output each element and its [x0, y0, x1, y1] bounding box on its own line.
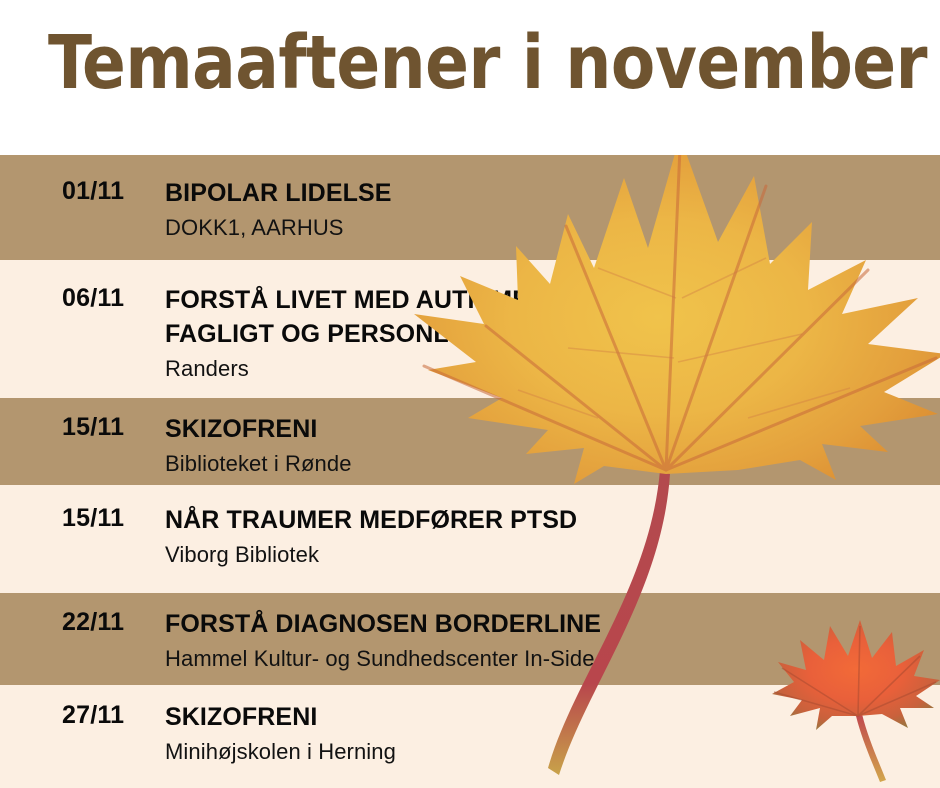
event-title-line1: BIPOLAR LIDELSE: [165, 179, 392, 207]
table-row: 06/11 FORSTÅ LIVET MED AUTISME UD FRA ET…: [0, 260, 940, 398]
table-row: 15/11 SKIZOFRENI Biblioteket i Rønde: [0, 398, 940, 485]
event-title-line1: NÅR TRAUMER MEDFØRER PTSD: [165, 506, 577, 534]
event-title: NÅR TRAUMER MEDFØRER PTSD: [165, 504, 930, 538]
event-title-line1: FORSTÅ LIVET MED AUTISME UD FRA ET: [165, 286, 669, 314]
event-title: SKIZOFRENI: [165, 701, 930, 735]
event-title: FORSTÅ LIVET MED AUTISME UD FRA ET FAGLI…: [165, 284, 930, 352]
table-row: 15/11 NÅR TRAUMER MEDFØRER PTSD Viborg B…: [0, 485, 940, 593]
event-date: 01/11: [0, 155, 165, 206]
title-bar: Temaaftener i november: [0, 0, 940, 155]
event-body: BIPOLAR LIDELSE DOKK1, AARHUS: [165, 155, 940, 242]
event-body: NÅR TRAUMER MEDFØRER PTSD Viborg Bibliot…: [165, 485, 940, 569]
event-venue: Hammel Kultur- og Sundhedscenter In-Side: [165, 645, 930, 674]
event-title: SKIZOFRENI: [165, 413, 930, 447]
event-date: 06/11: [0, 260, 165, 313]
event-title-line1: SKIZOFRENI: [165, 415, 317, 443]
table-row: 27/11 SKIZOFRENI Minihøjskolen i Herning: [0, 685, 940, 788]
event-date: 15/11: [0, 398, 165, 442]
event-title: FORSTÅ DIAGNOSEN BORDERLINE: [165, 608, 930, 642]
event-date: 22/11: [0, 593, 165, 637]
event-venue: Biblioteket i Rønde: [165, 450, 930, 479]
event-list: 01/11 BIPOLAR LIDELSE DOKK1, AARHUS 06/1…: [0, 155, 940, 788]
poster: Temaaftener i november 01/11 BIPOLAR LID…: [0, 0, 940, 788]
event-date: 27/11: [0, 685, 165, 730]
table-row: 22/11 FORSTÅ DIAGNOSEN BORDERLINE Hammel…: [0, 593, 940, 685]
event-venue: Viborg Bibliotek: [165, 541, 930, 570]
table-row: 01/11 BIPOLAR LIDELSE DOKK1, AARHUS: [0, 155, 940, 260]
event-venue: DOKK1, AARHUS: [165, 214, 930, 243]
event-title-line2: FAGLIGT OG PERSONLIGT PERSPEKTIV: [165, 318, 930, 352]
event-title-line1: SKIZOFRENI: [165, 703, 317, 731]
event-body: SKIZOFRENI Biblioteket i Rønde: [165, 398, 940, 478]
page-title: Temaaftener i november: [48, 26, 927, 100]
event-title-line1: FORSTÅ DIAGNOSEN BORDERLINE: [165, 610, 601, 638]
event-date: 15/11: [0, 485, 165, 533]
event-body: FORSTÅ LIVET MED AUTISME UD FRA ET FAGLI…: [165, 260, 940, 383]
event-venue: Randers: [165, 355, 930, 384]
event-body: FORSTÅ DIAGNOSEN BORDERLINE Hammel Kultu…: [165, 593, 940, 673]
event-title: BIPOLAR LIDELSE: [165, 177, 930, 211]
event-venue: Minihøjskolen i Herning: [165, 738, 930, 767]
event-body: SKIZOFRENI Minihøjskolen i Herning: [165, 685, 940, 766]
